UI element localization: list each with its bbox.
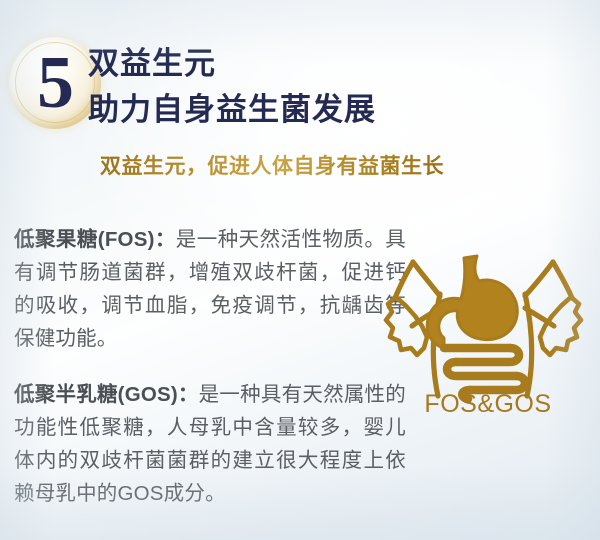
title-line-secondary: 助力自身益生菌发展 [88, 88, 588, 132]
step-number: 5 [22, 36, 88, 130]
title-line-primary: 双益生元 [88, 42, 588, 86]
page-title: 双益生元 助力自身益生菌发展 [88, 42, 588, 132]
paragraph-gos: 低聚半乳糖(GOS)：是一种具有天然属性的功能性低聚糖，人母乳中含量较多，婴儿体… [14, 378, 406, 510]
header-section: 5 双益生元 助力自身益生菌发展 双益生元，促进人体自身有益菌生长 [0, 0, 600, 190]
stomach-shape [427, 256, 517, 348]
paragraph-fos: 低聚果糖(FOS)：是一种天然活性物质。具有调节肠道菌群，增殖双歧杆菌，促进钙的… [14, 223, 406, 355]
paragraph-gos-lead: 低聚半乳糖(GOS)： [14, 383, 199, 406]
fos-gos-label: FOS&GOS [382, 390, 594, 419]
right-hand-icon [540, 297, 581, 355]
left-hand-icon [386, 297, 427, 355]
paragraph-fos-lead: 低聚果糖(FOS)： [14, 228, 176, 251]
poster-canvas: 5 双益生元 助力自身益生菌发展 双益生元，促进人体自身有益菌生长 低聚果糖(F… [0, 0, 600, 540]
body-copy: 低聚果糖(FOS)：是一种天然活性物质。具有调节肠道菌群，增殖双歧杆菌，促进钙的… [14, 202, 406, 530]
subtitle: 双益生元，促进人体自身有益菌生长 [100, 150, 444, 180]
